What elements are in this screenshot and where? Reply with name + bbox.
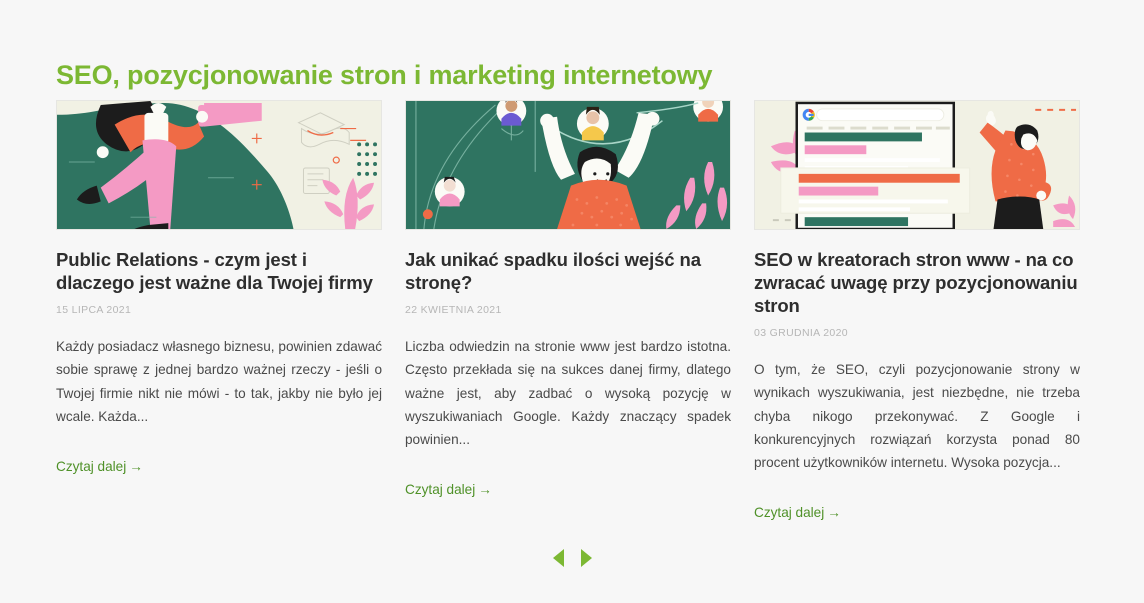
article-card-list: Public Relations - czym jest i dlaczego … <box>56 100 1081 522</box>
article-excerpt: Liczba odwiedzin na stronie www jest bar… <box>405 335 731 452</box>
arrow-right-icon: → <box>129 459 143 474</box>
article-thumbnail-link[interactable] <box>754 100 1080 230</box>
article-date: 03 GRUDNIA 2020 <box>754 327 1080 339</box>
article-excerpt: Każdy posiadacz własnego biznesu, powini… <box>56 335 382 429</box>
arrow-right-icon: → <box>478 482 492 497</box>
article-title-text: Public Relations - czym jest i dlaczego … <box>56 249 373 293</box>
article-thumbnail-link[interactable] <box>405 100 731 230</box>
google-search-results-icon <box>755 101 1079 229</box>
article-card: Public Relations - czym jest i dlaczego … <box>56 100 382 522</box>
triangle-right-icon <box>581 549 592 567</box>
article-date: 22 KWIETNIA 2021 <box>405 304 731 316</box>
read-more-link[interactable]: Czytaj dalej→ <box>56 459 143 474</box>
carousel-navigation <box>0 548 1144 568</box>
article-title[interactable]: Public Relations - czym jest i dlaczego … <box>56 249 382 295</box>
running-woman-with-megaphone-icon <box>57 101 381 229</box>
read-more-link[interactable]: Czytaj dalej→ <box>754 505 841 520</box>
article-excerpt: O tym, że SEO, czyli pozycjonowanie stro… <box>754 358 1080 475</box>
article-title[interactable]: Jak unikać spadku ilości wejść na stronę… <box>405 249 731 295</box>
page-title: SEO, pozycjonowanie stron i marketing in… <box>56 60 712 91</box>
article-date: 15 LIPCA 2021 <box>56 304 382 316</box>
article-title-text: SEO w kreatorach stron www - na co zwrac… <box>754 249 1078 316</box>
read-more-label: Czytaj dalej <box>56 459 126 474</box>
triangle-left-icon <box>553 549 564 567</box>
man-holding-line-with-avatars-icon <box>406 101 730 229</box>
arrow-right-icon: → <box>827 505 841 520</box>
article-thumbnail-link[interactable] <box>56 100 382 230</box>
read-more-label: Czytaj dalej <box>754 505 824 520</box>
read-more-link[interactable]: Czytaj dalej→ <box>405 482 492 497</box>
read-more-label: Czytaj dalej <box>405 482 475 497</box>
carousel-prev-button[interactable] <box>551 548 565 568</box>
article-title[interactable]: SEO w kreatorach stron www - na co zwrac… <box>754 249 1080 318</box>
article-title-text: Jak unikać spadku ilości wejść na stronę… <box>405 249 701 293</box>
article-card: SEO w kreatorach stron www - na co zwrac… <box>754 100 1080 522</box>
article-card: Jak unikać spadku ilości wejść na stronę… <box>405 100 731 522</box>
carousel-next-button[interactable] <box>579 548 593 568</box>
